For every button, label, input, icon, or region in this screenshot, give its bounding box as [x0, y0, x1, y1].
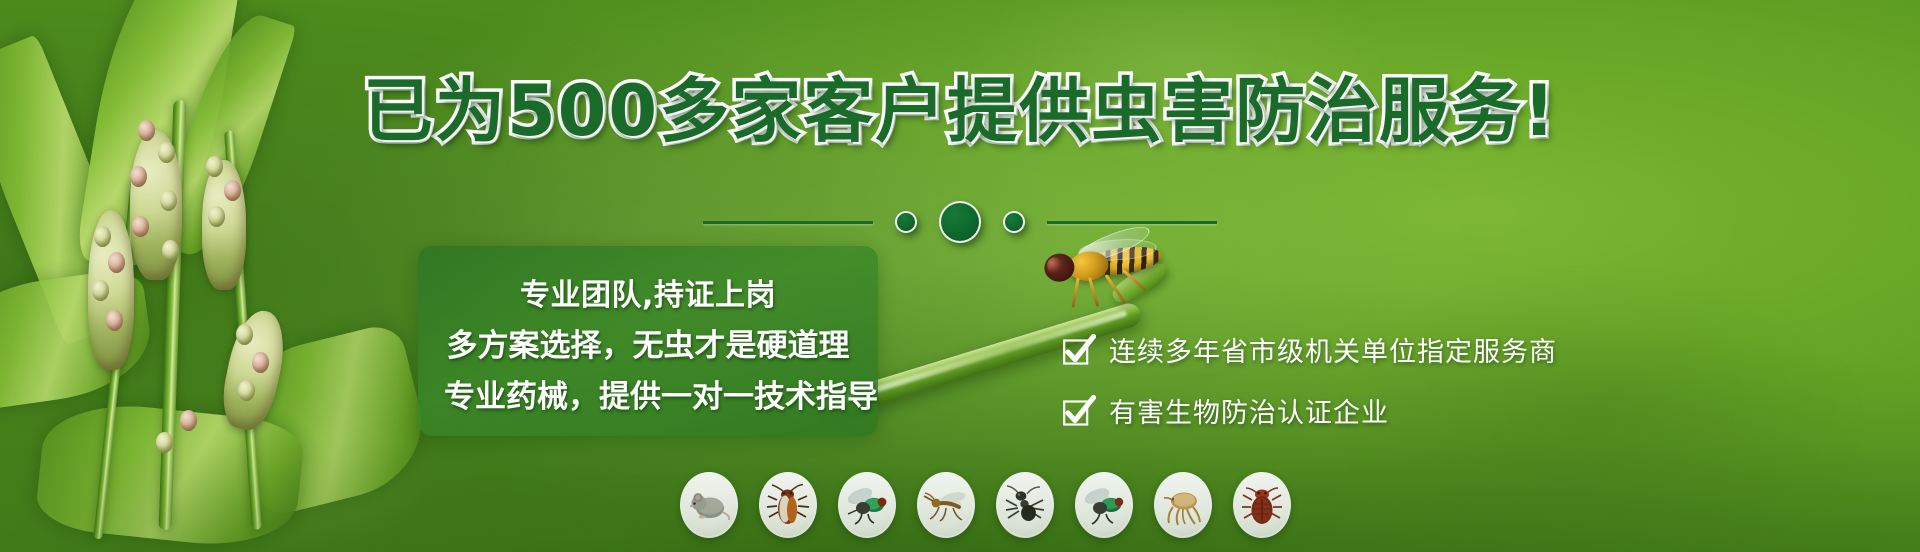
checklist-item: 连续多年省市级机关单位指定服务商	[1062, 330, 1557, 369]
flea-icon	[1160, 482, 1206, 528]
cockroach-icon	[765, 482, 811, 528]
checklist-item-label: 连续多年省市级机关单位指定服务商	[1109, 330, 1557, 369]
ant-icon	[1002, 482, 1048, 528]
pest-icon-housefly[interactable]	[1075, 472, 1133, 538]
blowfly-icon	[844, 482, 890, 528]
divider-dot-small-left	[895, 211, 917, 233]
checkbox-checked-icon	[1062, 333, 1096, 367]
pest-icon-mouse[interactable]	[680, 472, 738, 538]
pest-icon-mosquito[interactable]	[917, 472, 975, 538]
pest-icon-flea[interactable]	[1154, 472, 1212, 538]
checklist-item-label: 有害生物防治认证企业	[1109, 391, 1389, 430]
pest-type-icon-row	[680, 472, 1291, 538]
pest-control-promo-banner: 已为500多家客户提供虫害防治服务! 专业团队,持证上岗 多方案选择，无虫才是硬…	[0, 0, 1920, 552]
pest-icon-ant[interactable]	[996, 472, 1054, 538]
credentials-checklist: 连续多年省市级机关单位指定服务商 有害生物防治认证企业	[1062, 330, 1557, 430]
mouse-icon	[686, 482, 732, 528]
checkbox-checked-icon	[1062, 394, 1096, 428]
divider-dot-small-right	[1003, 211, 1025, 233]
pest-icon-bedbug[interactable]	[1233, 472, 1291, 538]
housefly-icon	[1081, 482, 1127, 528]
hoverfly-leg	[1071, 278, 1079, 308]
divider-line-left	[703, 221, 873, 224]
divider-line-right	[1047, 221, 1217, 224]
hoverfly-leg	[1122, 269, 1146, 291]
selling-points-panel: 专业团队,持证上岗 多方案选择，无虫才是硬道理 专业药械，提供一对一技术指导	[418, 246, 878, 436]
mosquito-icon	[923, 482, 969, 528]
panel-line-1: 专业团队,持证上岗	[444, 270, 852, 314]
panel-line-2: 多方案选择，无虫才是硬道理	[444, 320, 852, 365]
banner-headline: 已为500多家客户提供虫害防治服务!	[0, 76, 1920, 146]
decorative-divider	[0, 200, 1920, 244]
bedbug-icon	[1239, 482, 1285, 528]
checklist-item: 有害生物防治认证企业	[1062, 391, 1557, 430]
pest-icon-cockroach[interactable]	[759, 472, 817, 538]
banner-headline-text: 已为500多家客户提供虫害防治服务!	[363, 76, 1557, 146]
pest-icon-blowfly[interactable]	[838, 472, 896, 538]
divider-dot-large	[939, 201, 981, 243]
panel-line-3: 专业药械，提供一对一技术指导	[444, 371, 852, 416]
